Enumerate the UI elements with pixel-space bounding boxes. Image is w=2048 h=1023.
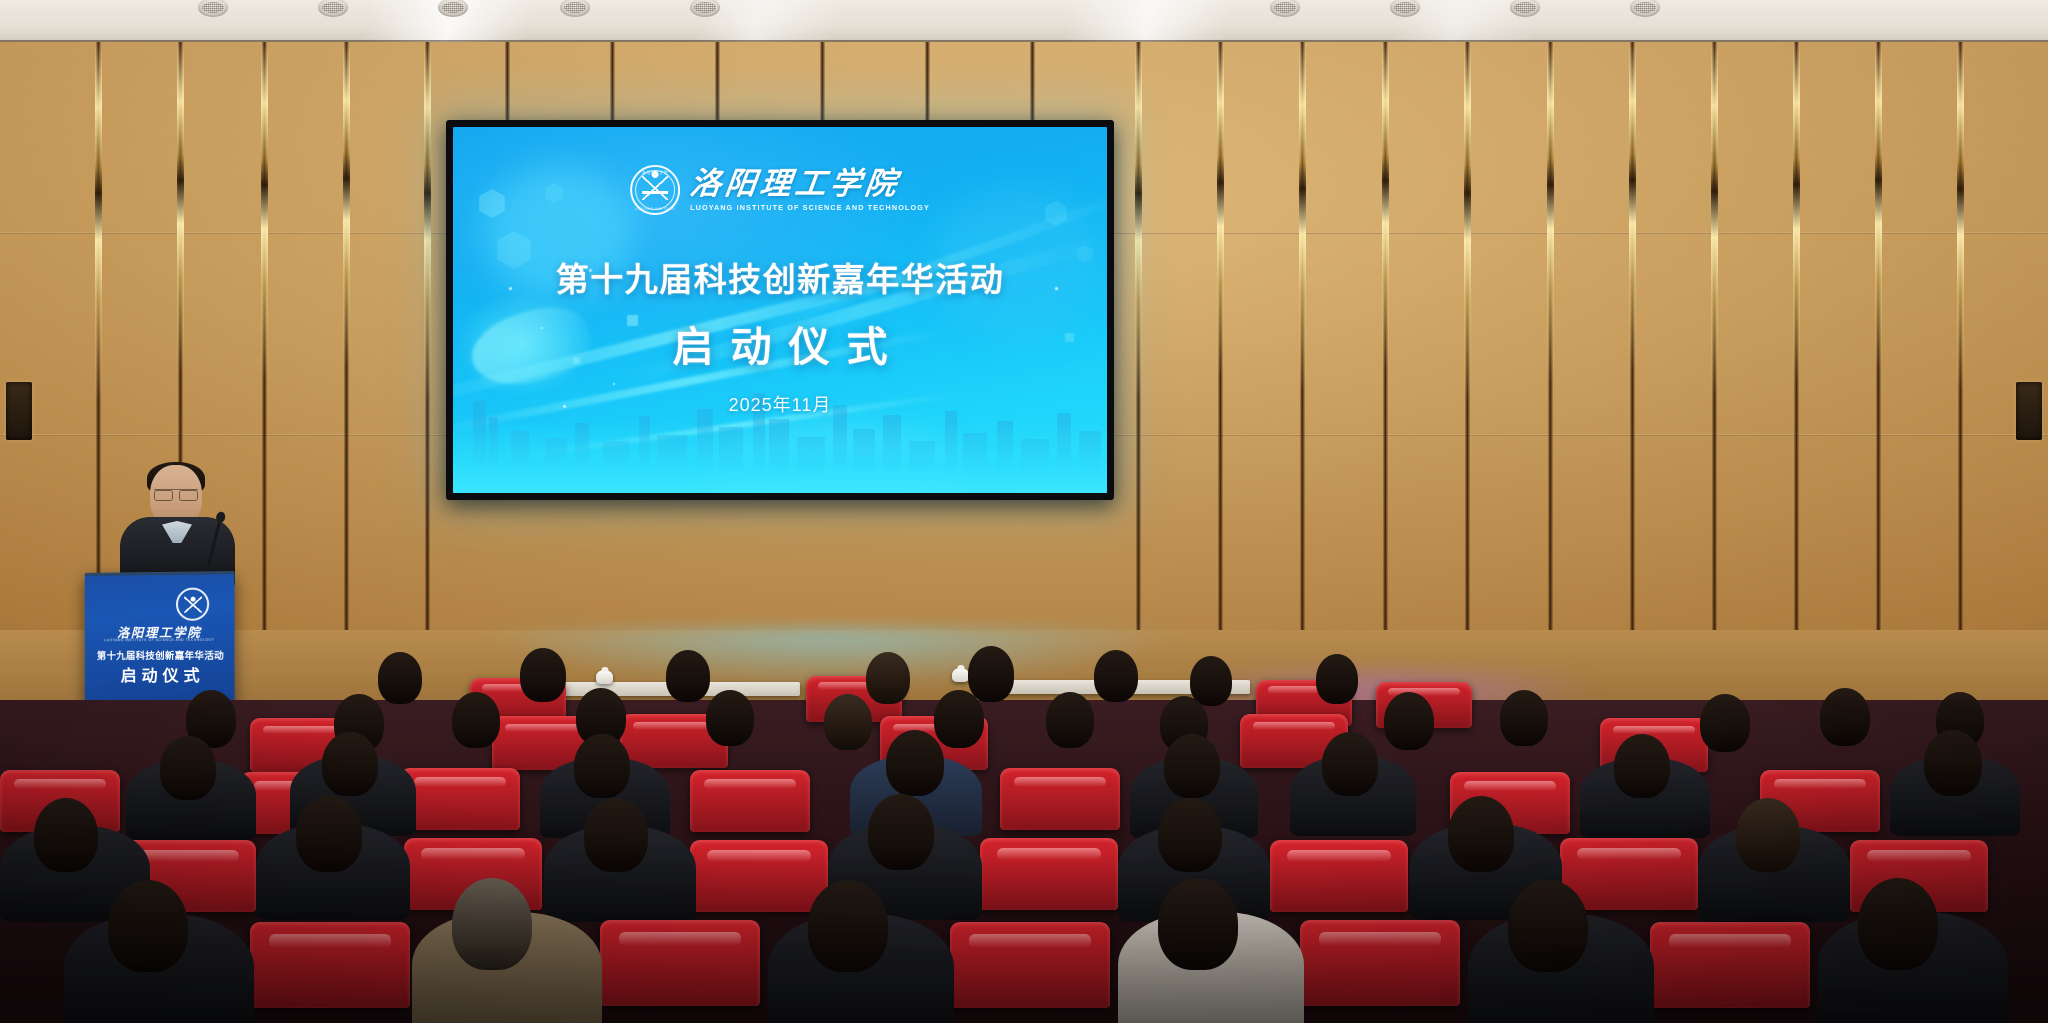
led-screen: 洛阳理工学院 LUOYANG INSTITUTE 洛阳理工学院 LUOYANG … [453, 127, 1107, 493]
audience-head [1448, 796, 1514, 872]
ceiling-gloss [0, 0, 2048, 44]
wall-niche [2016, 382, 2042, 440]
seat[interactable] [250, 922, 410, 1008]
university-crest-icon: 洛阳理工学院 LUOYANG INSTITUTE [630, 165, 680, 215]
audience-head [1094, 650, 1138, 702]
wall-brass-strip [1547, 42, 1554, 382]
audience-head [1736, 798, 1800, 872]
audience-head [868, 794, 934, 870]
audience-head [1700, 694, 1750, 752]
audience-head [1164, 734, 1220, 798]
seat[interactable] [950, 922, 1110, 1008]
wall-niche [6, 382, 32, 440]
audience-head [1508, 880, 1588, 972]
auditorium-photo: 洛阳理工学院 LUOYANG INSTITUTE 洛阳理工学院 LUOYANG … [0, 0, 2048, 1023]
audience-head [1190, 656, 1232, 706]
wall-brass-strip [1629, 42, 1636, 372]
seat[interactable] [690, 840, 828, 912]
audience-head [1158, 878, 1238, 970]
audience-head [108, 880, 188, 972]
wall-seam [505, 42, 510, 120]
university-name-en: LUOYANG INSTITUTE OF SCIENCE AND TECHNOL… [690, 203, 930, 212]
screen-headline: 第十九届科技创新嘉年华活动 启动仪式 [453, 253, 1107, 373]
audience-head [824, 694, 872, 750]
wall-brass-strip [1875, 42, 1882, 372]
audience-head [934, 690, 984, 748]
screen-date: 2025年11月 [453, 391, 1107, 417]
audience-head [1924, 730, 1982, 796]
podium-crest-icon [176, 587, 209, 620]
seat[interactable] [400, 768, 520, 830]
audience-head [1046, 692, 1094, 748]
audience-head [1158, 798, 1222, 872]
seat[interactable] [690, 770, 810, 832]
headline-line-2: 启动仪式 [453, 313, 1107, 373]
university-logo: 洛阳理工学院 LUOYANG INSTITUTE 洛阳理工学院 LUOYANG … [630, 165, 930, 215]
wall-seam [925, 42, 930, 120]
wall-brass-strip [177, 42, 184, 372]
glasses-icon [154, 489, 198, 498]
audience-head [1820, 688, 1870, 746]
speaker [120, 465, 235, 585]
wall-brass-strip [95, 42, 102, 402]
audience-head [1858, 878, 1938, 970]
audience-head [584, 798, 648, 872]
wall-brass-strip [261, 42, 268, 382]
audience-head [574, 734, 630, 798]
audience-area [0, 700, 2048, 1023]
audience-head [666, 650, 710, 702]
audience-head [520, 648, 566, 702]
seat[interactable] [1650, 922, 1810, 1008]
wall-brass-strip [1382, 42, 1389, 372]
wall-brass-strip [1299, 42, 1306, 392]
audience-head [1500, 690, 1548, 746]
audience-head [34, 798, 98, 872]
wall-brass-strip [1135, 42, 1142, 402]
headline-line-1: 第十九届科技创新嘉年华活动 [453, 253, 1107, 301]
audience-head [452, 878, 532, 970]
podium-line-2: 启动仪式 [91, 662, 231, 686]
audience-head [1384, 692, 1434, 750]
wall-seam [1030, 42, 1035, 120]
wall-brass-strip [1957, 42, 1964, 392]
audience-head [160, 736, 216, 800]
audience-head [808, 880, 888, 972]
audience-head [322, 732, 378, 796]
wall-seam [715, 42, 720, 120]
audience-head [378, 652, 422, 704]
wall-brass-strip [1793, 42, 1800, 382]
podium-line-1: 第十九届科技创新嘉年华活动 [91, 648, 231, 662]
crest-bottom-text: LUOYANG INSTITUTE [635, 207, 675, 211]
wall-brass-strip [1464, 42, 1471, 402]
audience-head [706, 690, 754, 746]
wall-brass-strip [343, 42, 350, 367]
seat[interactable] [1270, 840, 1408, 912]
cup-icon [952, 668, 969, 682]
audience-head [866, 652, 910, 704]
podium-top-edge [85, 571, 235, 576]
audience-head [1614, 734, 1670, 798]
seat[interactable] [980, 838, 1118, 910]
seat[interactable] [1300, 920, 1460, 1006]
seat[interactable] [600, 920, 760, 1006]
audience-head [452, 692, 500, 748]
audience-head [1322, 732, 1378, 796]
university-name-cn: 洛阳理工学院 [688, 168, 902, 200]
wall-seam [610, 42, 615, 120]
audience-head [968, 646, 1014, 702]
audience-head [296, 796, 362, 872]
ceiling [0, 0, 2048, 44]
wall-brass-strip [424, 42, 431, 402]
wall-brass-strip [1711, 42, 1718, 397]
podium-university-name-en: LUOYANG INSTITUTE OF SCIENCE AND TECHNOL… [95, 638, 225, 643]
cup-icon [596, 670, 613, 684]
wall-brass-strip [1217, 42, 1224, 377]
audience-head [1316, 654, 1358, 704]
seat[interactable] [1000, 768, 1120, 830]
wall-seam [820, 42, 825, 120]
audience-head [886, 730, 944, 796]
led-screen-bezel: 洛阳理工学院 LUOYANG INSTITUTE 洛阳理工学院 LUOYANG … [446, 120, 1114, 500]
